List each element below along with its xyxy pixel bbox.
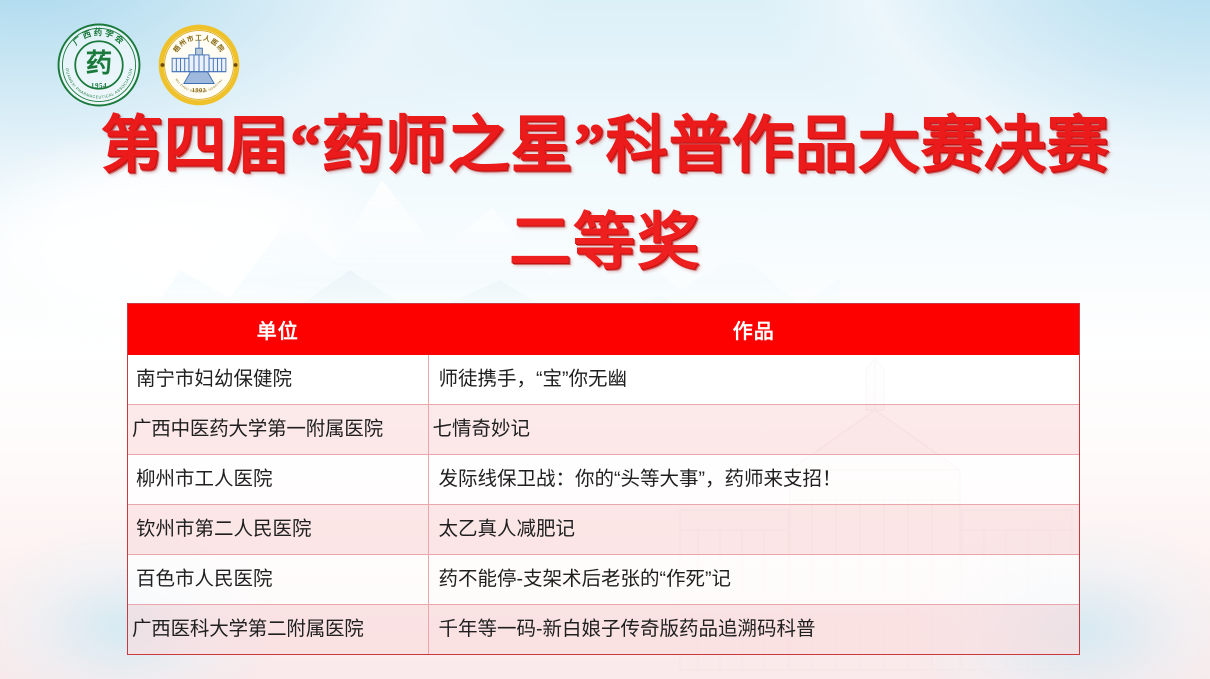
cell-unit: 钦州市第二人民医院 bbox=[128, 505, 428, 555]
column-header-unit: 单位 bbox=[128, 304, 428, 355]
page-subtitle-award-level: 二等奖 bbox=[0, 208, 1210, 278]
cell-work: 七情奇妙记 bbox=[428, 405, 1079, 455]
svg-text:药: 药 bbox=[86, 48, 112, 78]
cell-unit: 南宁市妇幼保健院 bbox=[128, 355, 428, 405]
page-title: 第四届“药师之星”科普作品大赛决赛 bbox=[0, 108, 1210, 184]
cell-unit: 柳州市工人医院 bbox=[128, 455, 428, 505]
column-header-work: 作品 bbox=[428, 304, 1079, 355]
cell-work: 药不能停-支架术后老张的“作死”记 bbox=[428, 555, 1079, 605]
logo-group: 广西药学会 GUANGXI PHARMACEUTICAL ASSOCIATION… bbox=[55, 21, 241, 109]
cell-unit: 百色市人民医院 bbox=[128, 555, 428, 605]
cell-work: 师徒携手，“宝”你无幽 bbox=[428, 355, 1079, 405]
awards-table-header: 单位 作品 bbox=[128, 304, 1079, 355]
table-header-row: 单位 作品 bbox=[128, 304, 1079, 355]
table-row: 广西医科大学第二附属医院 千年等一码-新白娘子传奇版药品追溯码科普 bbox=[128, 605, 1079, 655]
table-row: 南宁市妇幼保健院 师徒携手，“宝”你无幽 bbox=[128, 355, 1079, 405]
table-row: 柳州市工人医院 发际线保卫战：你的“头等大事”，药师来支招！ bbox=[128, 455, 1079, 505]
svg-text:1954: 1954 bbox=[91, 82, 107, 90]
awards-table: 单位 作品 南宁市妇幼保健院 师徒携手，“宝”你无幽 广西中医药大学第一附属医院… bbox=[128, 304, 1079, 654]
table-row: 百色市人民医院 药不能停-支架术后老张的“作死”记 bbox=[128, 555, 1079, 605]
svg-text:1903: 1903 bbox=[192, 87, 206, 94]
table-row: 钦州市第二人民医院 太乙真人减肥记 bbox=[128, 505, 1079, 555]
guangxi-pharmaceutical-association-logo: 广西药学会 GUANGXI PHARMACEUTICAL ASSOCIATION… bbox=[55, 21, 143, 109]
title-block: 第四届“药师之星”科普作品大赛决赛 二等奖 bbox=[0, 108, 1210, 278]
cell-work: 发际线保卫战：你的“头等大事”，药师来支招！ bbox=[428, 455, 1079, 505]
wuzhou-gongren-hospital-logo: 梧州市工人医院 WU ZHOU GONGREN HOSPITAL bbox=[157, 23, 241, 107]
cell-work: 太乙真人减肥记 bbox=[428, 505, 1079, 555]
awards-table-container: 单位 作品 南宁市妇幼保健院 师徒携手，“宝”你无幽 广西中医药大学第一附属医院… bbox=[127, 303, 1080, 655]
table-row: 广西中医药大学第一附属医院 七情奇妙记 bbox=[128, 405, 1079, 455]
cell-work: 千年等一码-新白娘子传奇版药品追溯码科普 bbox=[428, 605, 1079, 655]
cell-unit: 广西中医药大学第一附属医院 bbox=[128, 405, 428, 455]
cell-unit: 广西医科大学第二附属医院 bbox=[128, 605, 428, 655]
awards-table-body: 南宁市妇幼保健院 师徒携手，“宝”你无幽 广西中医药大学第一附属医院 七情奇妙记… bbox=[128, 355, 1079, 654]
slide-canvas: 广西药学会 GUANGXI PHARMACEUTICAL ASSOCIATION… bbox=[0, 0, 1210, 679]
